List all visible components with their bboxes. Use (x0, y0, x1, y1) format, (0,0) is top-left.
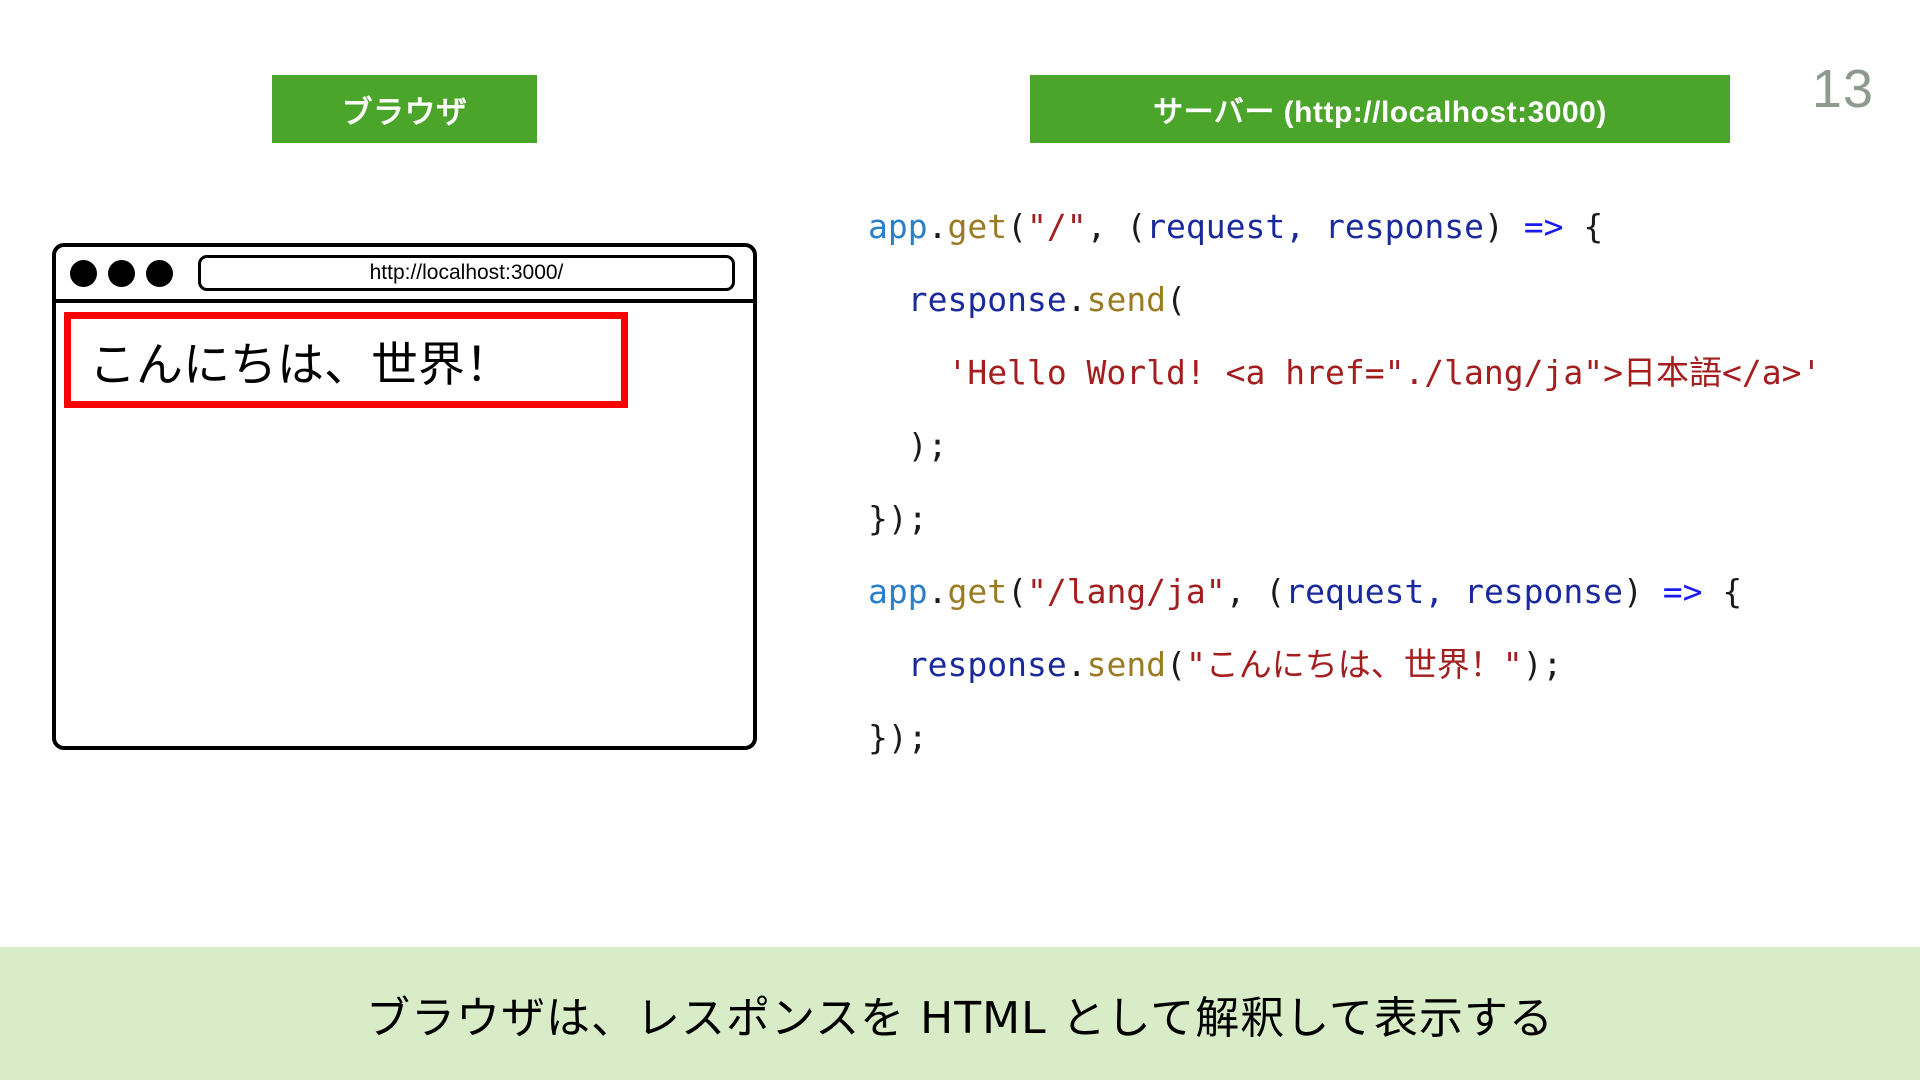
code-line: }); (868, 482, 1821, 555)
code-token-plain: }); (868, 718, 928, 757)
code-line: }); (868, 701, 1821, 774)
browser-section-banner: ブラウザ (272, 75, 537, 143)
code-token-plain: . (928, 572, 948, 611)
code-line: app.get("/", (request, response) => { (868, 190, 1821, 263)
code-token-fn: send (1087, 645, 1166, 684)
server-code-snippet: app.get("/", (request, response) => { re… (868, 190, 1821, 774)
code-token-plain: ); (868, 426, 947, 465)
code-token-plain: ( (1007, 207, 1027, 246)
rendered-page-text: こんにちは、世界！ (89, 326, 512, 395)
code-token-arrow: => (1663, 572, 1703, 611)
code-token-str: "/lang/ja" (1027, 572, 1226, 611)
code-token-plain: . (1067, 280, 1087, 319)
code-line: response.send( (868, 263, 1821, 336)
server-section-banner: サーバー (http://localhost:3000) (1030, 75, 1730, 143)
caption-bar: ブラウザは、レスポンスを HTML として解釈して表示する (0, 947, 1920, 1080)
code-token-str: 'Hello World! <a href="./lang/ja">日本語</a… (947, 353, 1821, 392)
code-token-plain: }); (868, 499, 928, 538)
code-token-obj: app (868, 572, 928, 611)
code-token-plain (868, 280, 908, 319)
browser-window-mockup: http://localhost:3000/ こんにちは、世界！ (52, 243, 757, 750)
code-token-str: "こんにちは、世界！" (1186, 645, 1523, 684)
code-token-param: response (908, 645, 1067, 684)
code-line: 'Hello World! <a href="./lang/ja">日本語</a… (868, 336, 1821, 409)
code-token-plain: ( (1166, 280, 1186, 319)
code-token-fn: get (947, 572, 1007, 611)
code-line: response.send("こんにちは、世界！"); (868, 628, 1821, 701)
code-token-obj: app (868, 207, 928, 246)
code-line: ); (868, 409, 1821, 482)
code-token-plain: { (1703, 572, 1743, 611)
code-token-plain: ( (1166, 645, 1186, 684)
slide-number: 13 (1812, 62, 1874, 116)
code-token-plain (868, 645, 908, 684)
traffic-light-close-icon (70, 260, 97, 287)
server-banner-label: サーバー (http://localhost:3000) (1153, 87, 1607, 131)
address-bar-url: http://localhost:3000/ (370, 261, 564, 285)
rendered-output-highlight: こんにちは、世界！ (64, 312, 628, 408)
caption-text: ブラウザは、レスポンスを HTML として解釈して表示する (366, 982, 1554, 1046)
code-token-plain: . (1067, 645, 1087, 684)
browser-banner-label: ブラウザ (342, 87, 468, 132)
code-token-arrow: => (1524, 207, 1564, 246)
browser-viewport: こんにちは、世界！ (56, 303, 753, 746)
browser-titlebar: http://localhost:3000/ (56, 247, 753, 303)
code-token-str: "/" (1027, 207, 1087, 246)
code-token-param: request, response (1285, 572, 1623, 611)
code-token-plain (868, 353, 947, 392)
code-token-fn: get (947, 207, 1007, 246)
traffic-light-maximize-icon (146, 260, 173, 287)
traffic-light-minimize-icon (108, 260, 135, 287)
code-token-plain: ( (1007, 572, 1027, 611)
code-token-plain: , ( (1087, 207, 1147, 246)
code-token-plain: ) (1484, 207, 1524, 246)
code-token-param: request, response (1146, 207, 1484, 246)
code-token-param: response (908, 280, 1067, 319)
code-token-plain: ) (1623, 572, 1663, 611)
code-line: app.get("/lang/ja", (request, response) … (868, 555, 1821, 628)
code-token-plain: . (928, 207, 948, 246)
code-token-plain: ); (1523, 645, 1563, 684)
code-token-fn: send (1087, 280, 1166, 319)
code-token-plain: , ( (1226, 572, 1286, 611)
address-bar[interactable]: http://localhost:3000/ (198, 255, 735, 291)
code-token-plain: { (1563, 207, 1603, 246)
